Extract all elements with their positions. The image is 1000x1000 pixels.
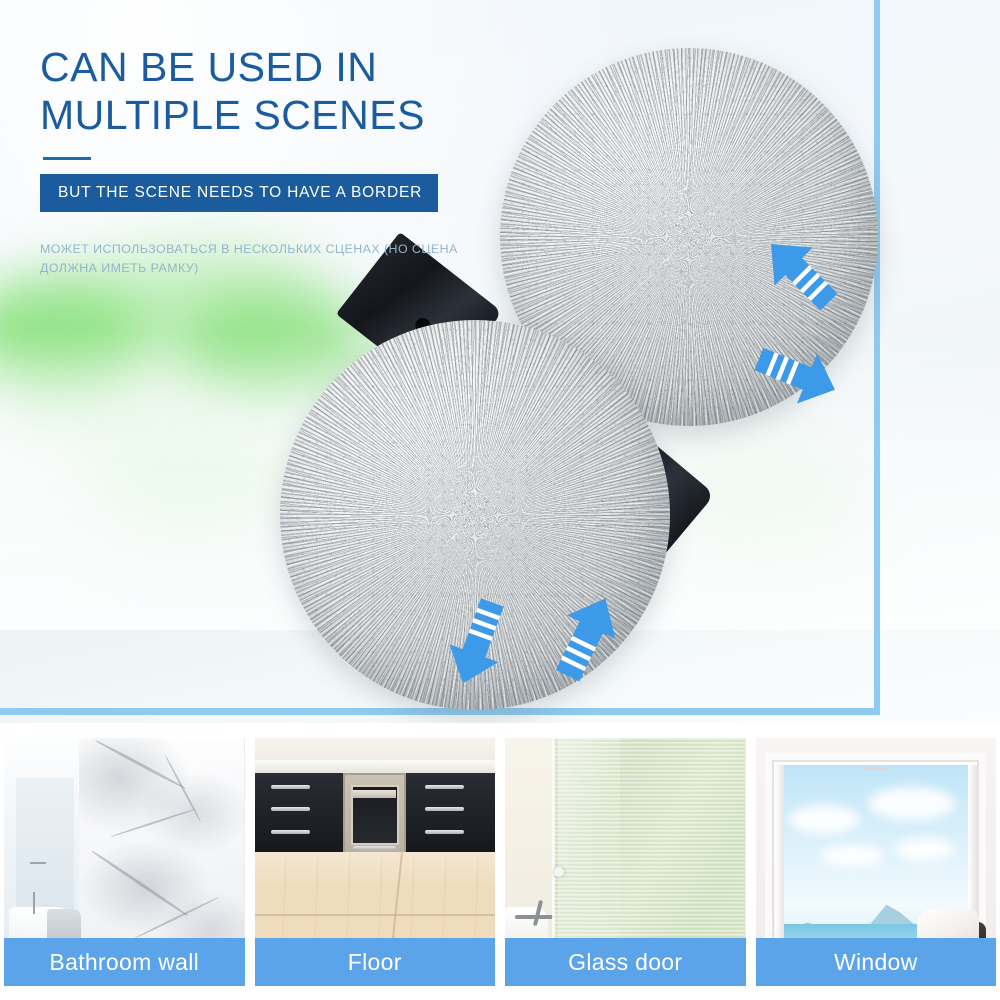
scene-tiles: Bathroom wall Floor — [0, 738, 1000, 986]
background-horizon-wash — [0, 330, 1000, 630]
faucet-spout — [30, 862, 46, 865]
bracket-knob-2 — [621, 468, 642, 489]
cabinet-handle — [271, 830, 309, 834]
cabinet-handle — [425, 830, 463, 834]
foliage-bokeh-6 — [250, 430, 400, 510]
tile-caption: Bathroom wall — [4, 938, 245, 986]
foliage-bokeh-1 — [0, 276, 150, 386]
pad-fiber-speckle — [506, 54, 872, 420]
tile-caption: Window — [756, 938, 997, 986]
foliage-bokeh-8 — [700, 480, 870, 575]
marble-vein — [91, 850, 189, 917]
motion-arrow-up-right — [543, 592, 629, 684]
pad-fiber-speckle — [286, 326, 664, 704]
motion-arrow-right — [752, 335, 840, 413]
frame-rule-vertical — [874, 0, 880, 715]
scene-window[interactable]: Window — [756, 738, 997, 986]
cabinet-handle — [425, 785, 463, 789]
motion-arrow-up-left — [757, 230, 843, 316]
scene-bathroom-wall[interactable]: Bathroom wall — [4, 738, 245, 986]
scene-glass-door[interactable]: Glass door — [505, 738, 746, 986]
subtitle-russian: МОЖЕТ ИСПОЛЬЗОВАТЬСЯ В НЕСКОЛЬКИХ СЦЕНАХ… — [40, 240, 470, 278]
bracket-hole-lower — [583, 475, 611, 503]
marble-vein — [110, 809, 196, 839]
bathroom-panel — [16, 778, 74, 917]
kitchen-countertop — [255, 760, 496, 772]
tile-caption: Glass door — [505, 938, 746, 986]
page-title: CAN BE USED IN MULTIPLE SCENES — [40, 44, 510, 139]
bracket-knob-1 — [593, 459, 617, 483]
scene-floor[interactable]: Floor — [255, 738, 496, 986]
cloud — [821, 845, 884, 867]
window-latch — [864, 767, 888, 771]
cloud — [789, 805, 860, 834]
foliage-bokeh-7 — [640, 430, 850, 550]
bracket-hole-upper — [412, 315, 433, 336]
cabinet-handle — [425, 807, 463, 811]
cabinet-handle — [271, 785, 309, 789]
tile-caption: Floor — [255, 938, 496, 986]
hero-section: CAN BE USED IN MULTIPLE SCENES BUT THE S… — [0, 0, 1000, 723]
marble-vein — [133, 896, 220, 940]
hero-copy-block: CAN BE USED IN MULTIPLE SCENES BUT THE S… — [40, 44, 510, 279]
status-badge: BUT THE SCENE NEEDS TO HAVE A BORDER — [40, 174, 438, 212]
cabinet-handle — [271, 807, 309, 811]
bracket-knob-3 — [557, 470, 588, 501]
oven-handle — [353, 846, 396, 850]
upper-round-mop-pad — [500, 48, 878, 426]
kitchen-backwall — [255, 738, 496, 763]
foliage-bokeh-4 — [92, 425, 277, 535]
oven-door-vent — [353, 790, 396, 797]
foliage-bokeh-3 — [178, 292, 378, 397]
faucet-stem — [33, 892, 35, 914]
mop-bracket-lower — [531, 398, 715, 577]
frame-rule-horizontal — [0, 708, 880, 715]
floor-seam — [255, 914, 496, 916]
motion-arrow-down — [438, 596, 518, 688]
lower-round-mop-pad — [280, 320, 670, 710]
foliage-bokeh-5 — [0, 360, 150, 450]
cloud — [895, 838, 954, 862]
cloud — [868, 787, 955, 820]
window-mullion — [775, 765, 784, 946]
title-divider — [43, 157, 91, 160]
marble-vein — [94, 739, 186, 790]
